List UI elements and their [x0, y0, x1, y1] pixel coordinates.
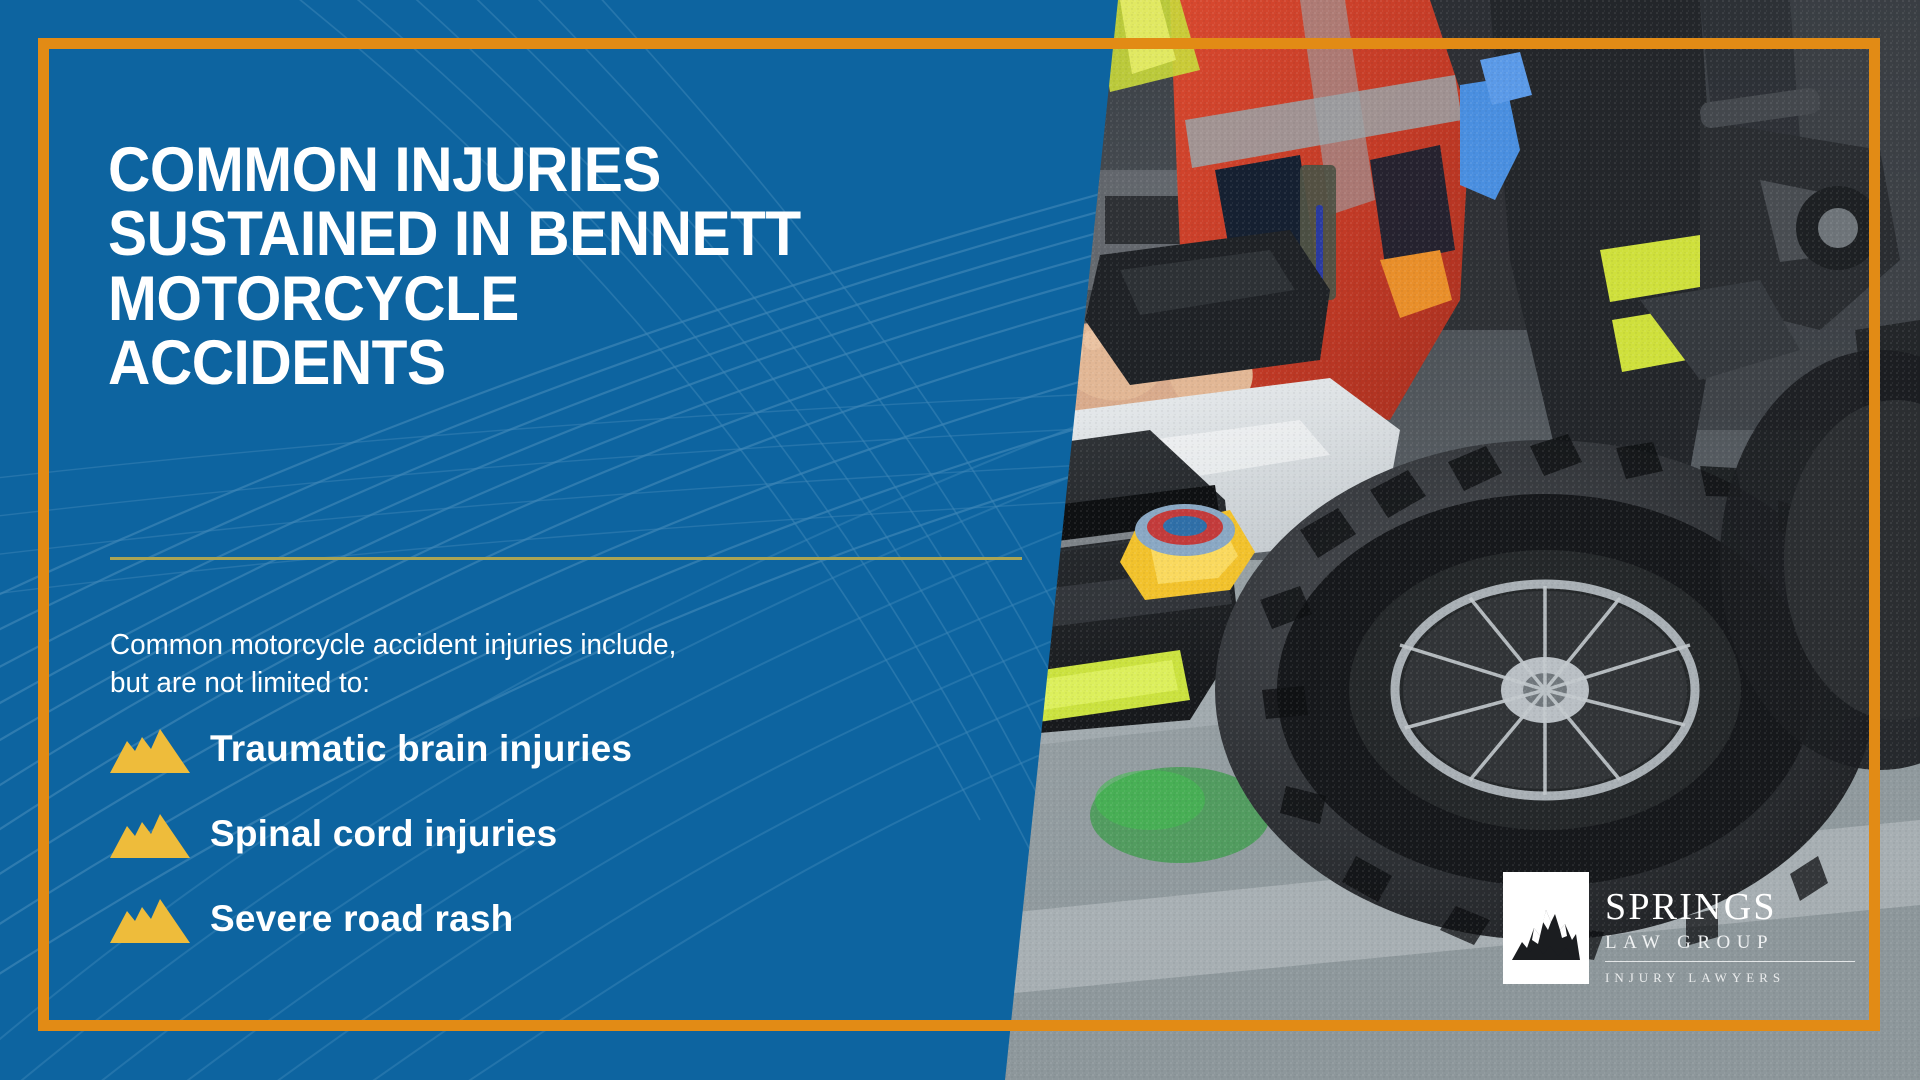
list-item: Spinal cord injuries [110, 791, 970, 876]
springs-law-group-logo: SPRINGS LAW GROUP INJURY LAWYERS [1503, 872, 1863, 998]
list-item-label: Traumatic brain injuries [210, 728, 632, 770]
list-item: Traumatic brain injuries [110, 706, 970, 791]
mountain-logo-icon [1503, 872, 1589, 984]
gold-divider-rule [110, 557, 1022, 560]
frame-border-right [1869, 38, 1880, 1031]
list-item: Severe road rash [110, 876, 970, 961]
logo-subtitle: LAW GROUP [1605, 933, 1855, 952]
logo-wordmark: SPRINGS LAW GROUP INJURY LAWYERS [1605, 872, 1855, 984]
mountain-icon [110, 895, 190, 943]
frame-border-top [38, 38, 1880, 49]
frame-border-bottom [38, 1020, 1880, 1031]
infographic-banner: COMMON INJURIES SUSTAINED IN BENNETT MOT… [0, 0, 1920, 1080]
intro-paragraph: Common motorcycle accident injuries incl… [110, 627, 878, 702]
logo-name: SPRINGS [1605, 888, 1855, 926]
mountain-icon [110, 725, 190, 773]
list-item-label: Severe road rash [210, 898, 513, 940]
injury-list: Traumatic brain injuries Spinal cord inj… [110, 706, 970, 961]
logo-tagline: INJURY LAWYERS [1605, 971, 1855, 984]
frame-border-left [38, 38, 49, 1031]
list-item-label: Spinal cord injuries [210, 813, 557, 855]
page-title: COMMON INJURIES SUSTAINED IN BENNETT MOT… [108, 138, 815, 395]
mountain-icon [110, 810, 190, 858]
logo-divider [1605, 961, 1855, 962]
